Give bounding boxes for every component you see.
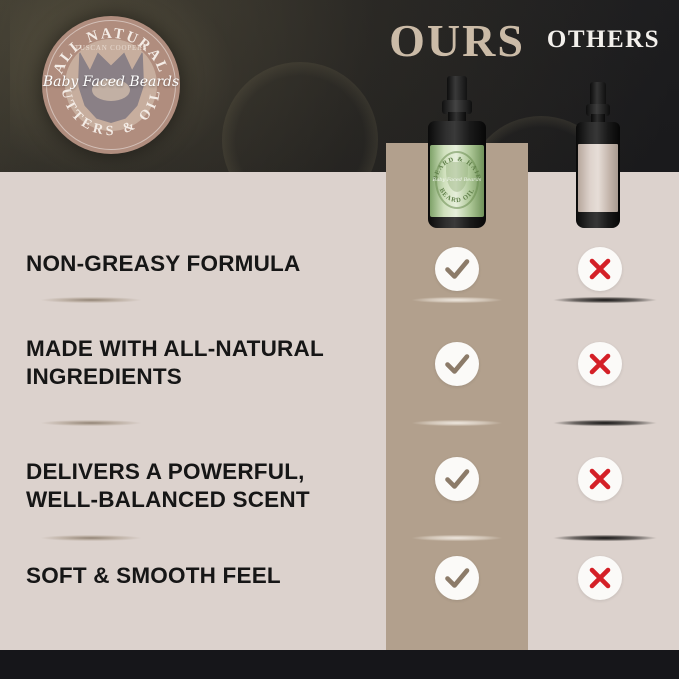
cross-icon: [578, 342, 622, 386]
feature-divider-ours: [400, 419, 514, 427]
cross-icon: [578, 247, 622, 291]
feature-label: DELIVERS A POWERFUL, WELL-BALANCED SCENT: [26, 458, 376, 514]
feature-label: MADE WITH ALL-NATURAL INGREDIENTS: [26, 335, 376, 391]
badge-subtitle: TUSCAN COOPERS: [42, 44, 180, 52]
feature-divider-left: [26, 534, 156, 542]
check-icon: [435, 556, 479, 600]
ours-product-bottle: BEARD & HAIR BEARD OIL Baby Faced Beards: [428, 76, 486, 228]
feature-divider-ours: [400, 534, 514, 542]
badge-script-name: Baby Faced Beards: [42, 74, 180, 90]
check-icon: [435, 342, 479, 386]
cross-icon: [578, 457, 622, 501]
dropper-cap-icon: [447, 76, 467, 102]
feature-divider-others: [540, 419, 670, 427]
feature-divider-others: [540, 534, 670, 542]
svg-text:BUTTERS & OILS: BUTTERS & OILS: [35, 5, 164, 139]
brand-logo-badge: ALL NATURAL BUTTERS & OILS TUSCAN COOPER…: [42, 16, 180, 154]
dropper-cap-icon: [590, 82, 606, 106]
others-column-heading: OTHERS: [528, 26, 679, 54]
bottom-dark-band: [0, 650, 679, 679]
feature-divider-ours: [400, 296, 514, 304]
others-product-bottle: [576, 82, 620, 228]
cross-icon: [578, 556, 622, 600]
feature-divider-left: [26, 419, 156, 427]
ours-bottle-label: BEARD & HAIR BEARD OIL Baby Faced Beards: [430, 145, 484, 217]
label-arc-bottom-text: BEARD OIL: [438, 187, 477, 204]
check-icon: [435, 457, 479, 501]
label-script-text: Baby Faced Beards: [430, 177, 484, 183]
others-bottle-blank-label: [578, 144, 618, 212]
comparison-infographic: ALL NATURAL BUTTERS & OILS TUSCAN COOPER…: [0, 0, 679, 679]
svg-text:BEARD OIL: BEARD OIL: [438, 187, 477, 204]
check-icon: [435, 247, 479, 291]
feature-divider-others: [540, 296, 670, 304]
feature-label: SOFT & SMOOTH FEEL: [26, 562, 376, 590]
feature-label: NON-GREASY FORMULA: [26, 250, 376, 278]
badge-bottom-arc-text: BUTTERS & OILS: [35, 5, 164, 139]
feature-divider-left: [26, 296, 156, 304]
ours-column-heading: OURS: [386, 14, 528, 67]
